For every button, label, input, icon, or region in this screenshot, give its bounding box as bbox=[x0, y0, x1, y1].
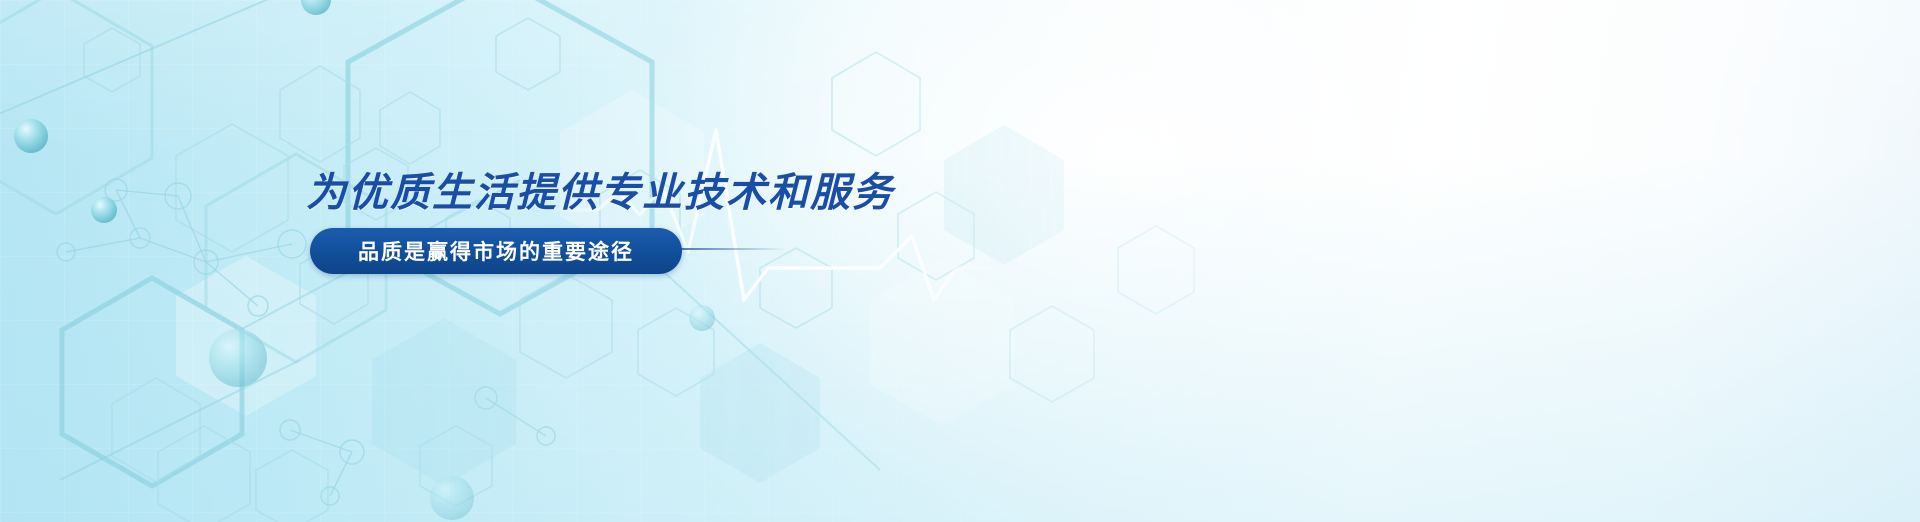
doctor-photo bbox=[0, 0, 1920, 522]
hero-banner: 为优质生活提供专业技术和服务 Quality wins Future 品质是赢得… bbox=[0, 0, 1920, 522]
page-title: 为优质生活提供专业技术和服务 bbox=[306, 160, 894, 218]
rule-right-line bbox=[664, 248, 786, 250]
slogan-pill-label: 品质是赢得市场的重要途径 bbox=[358, 236, 634, 266]
slogan-pill-button[interactable]: 品质是赢得市场的重要途径 bbox=[310, 228, 682, 274]
